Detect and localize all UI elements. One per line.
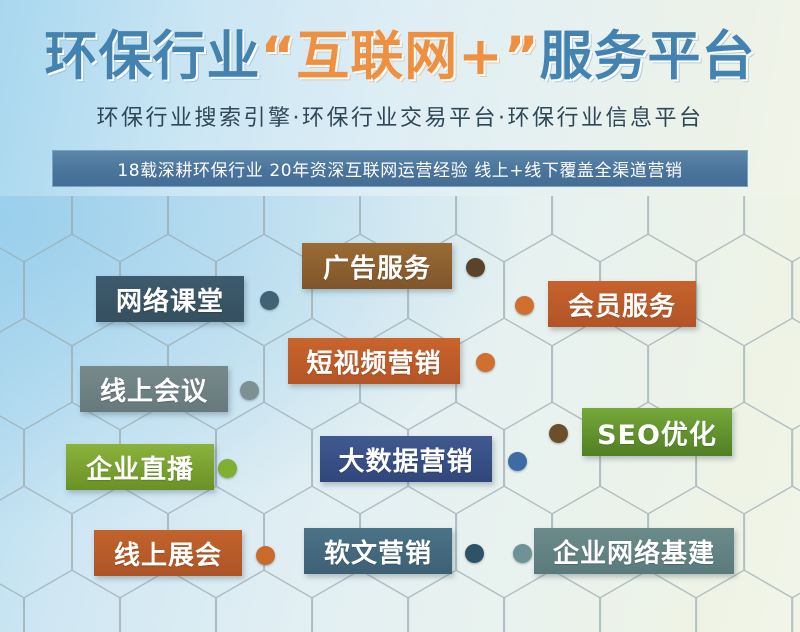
service-label-huiyuanfuwu[interactable]: 会员服务 — [548, 281, 696, 327]
title-segment-3: 服务平台 — [540, 26, 756, 87]
tagline-banner: 18载深耕环保行业 20年资深互联网运营经验 线上+线下覆盖全渠道营销 — [52, 150, 748, 187]
node-dot-wangluoketang — [260, 291, 279, 310]
service-label-text: 网络课堂 — [116, 281, 224, 318]
tagline-text: 18载深耕环保行业 20年资深互联网运营经验 线上+线下覆盖全渠道营销 — [117, 156, 682, 181]
infographic-poster: 环保行业“互联网+”服务平台 环保行业搜索引擎·环保行业交易平台·环保行业信息平… — [0, 0, 800, 632]
service-label-text: 广告服务 — [323, 248, 431, 285]
node-dot-dashuju — [508, 452, 527, 471]
node-dot-duanshipin — [476, 353, 495, 372]
node-dot-seo — [549, 424, 568, 443]
node-dot-xianshanghuiyi — [240, 381, 259, 400]
service-label-wangluoketang[interactable]: 网络课堂 — [96, 276, 244, 322]
service-label-xianshangzhanhui[interactable]: 线上展会 — [94, 530, 242, 576]
service-label-text: 短视频营销 — [306, 343, 441, 380]
service-label-xianshanghuiyi[interactable]: 线上会议 — [80, 366, 228, 412]
service-label-text: 线上会议 — [100, 371, 208, 408]
service-label-text: SEO优化 — [597, 413, 717, 452]
page-title: 环保行业“互联网+”服务平台 — [0, 22, 800, 92]
node-dot-xianshangzhanhui — [256, 546, 275, 565]
node-dot-qiyezhibo — [218, 459, 237, 478]
poster-header: 环保行业“互联网+”服务平台 环保行业搜索引擎·环保行业交易平台·环保行业信息平… — [0, 0, 800, 196]
service-label-text: 企业网络基建 — [553, 533, 715, 570]
service-label-text: 线上展会 — [114, 535, 222, 572]
service-label-dashuju[interactable]: 大数据营销 — [320, 436, 492, 482]
service-label-ruanwen[interactable]: 软文营销 — [304, 528, 452, 574]
service-label-text: 大数据营销 — [338, 441, 473, 478]
node-dot-guanggaofuwu — [466, 258, 485, 277]
service-label-text: 企业直播 — [86, 449, 194, 486]
service-label-guanggaofuwu[interactable]: 广告服务 — [302, 243, 452, 289]
service-label-seo[interactable]: SEO优化 — [582, 408, 732, 456]
node-dot-ruanwen — [465, 544, 484, 563]
service-label-qiyewangluo[interactable]: 企业网络基建 — [534, 528, 734, 574]
title-segment-1: 环保行业 — [44, 26, 260, 87]
service-label-text: 软文营销 — [324, 533, 432, 570]
title-segment-2: “互联网+” — [260, 26, 539, 87]
page-subtitle: 环保行业搜索引擎·环保行业交易平台·环保行业信息平台 — [0, 100, 800, 132]
node-dot-huiyuanfuwu — [515, 296, 534, 315]
node-dot-qiyewangluo — [513, 544, 532, 563]
service-label-duanshipin[interactable]: 短视频营销 — [288, 338, 460, 384]
service-label-text: 会员服务 — [568, 286, 676, 323]
service-label-qiyezhibo[interactable]: 企业直播 — [66, 444, 214, 490]
